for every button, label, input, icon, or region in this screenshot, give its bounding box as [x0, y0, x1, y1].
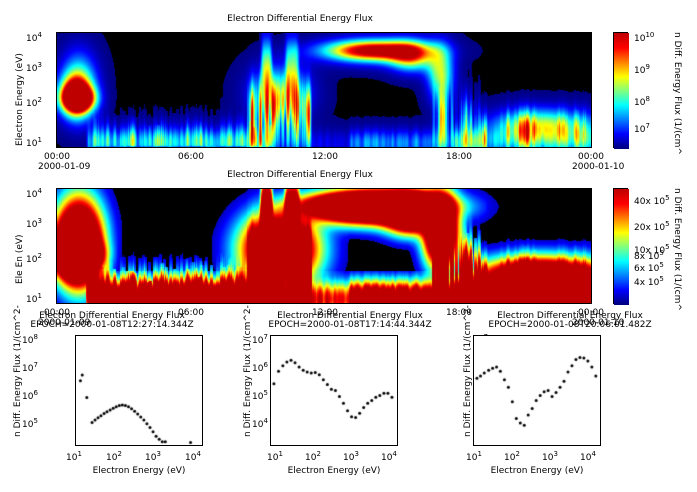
panel1-xtick-4: 00:00	[578, 152, 604, 162]
spectrum2-xtick-4: 104	[381, 450, 397, 463]
spectrum3-xtick-4: 104	[580, 450, 596, 463]
panel1-ytick-1: 101	[26, 136, 42, 149]
panel1-ytick-4-exp: 4	[37, 31, 41, 39]
panel1-title: Electron Differential Energy Flux	[0, 14, 600, 24]
spectrum1-ytick-5-exp: 5	[33, 417, 37, 425]
panel2-cbtick-40-exp: 5	[665, 194, 669, 202]
panel1-ytick-2-exp: 2	[37, 96, 41, 104]
spectrum2-xlabel: Electron Energy (eV)	[270, 466, 398, 476]
spectrum1-ytick-8-exp: 8	[33, 333, 37, 341]
spectrum2-xtick-1-exp: 1	[278, 450, 282, 458]
panel2-cbtick-4: 4x 105	[634, 275, 664, 288]
panel1-ytick-1-exp: 1	[37, 136, 41, 144]
spectrum2-ytick-7-exp: 7	[263, 333, 267, 341]
spectrum2-xtick-4-exp: 4	[392, 450, 396, 458]
spectrum3-subtitle: EPOCH=2000-01-08T20:06:01.482Z	[450, 320, 690, 330]
spectrum2-ytick-6: 106	[252, 361, 268, 374]
spectrum3-xlabel: Electron Energy (eV)	[473, 466, 601, 476]
panel2-cbtick-20-exp: 5	[665, 220, 669, 228]
panel1-cbtick-10-exp: 10	[645, 31, 654, 39]
spectrum1-plot-area[interactable]	[75, 335, 203, 446]
spectrum2-xtick-1: 101	[267, 450, 283, 463]
panel2-title: Electron Differential Energy Flux	[0, 170, 600, 180]
panel1-colorbar[interactable]	[613, 32, 628, 148]
spectrum2-ytick-6-exp: 6	[263, 361, 267, 369]
panel1-xtick-3: 18:00	[446, 152, 472, 162]
panel2-cbtick-10-exp: 5	[665, 243, 669, 251]
panel2-cbtick-6-mant: 6x 10	[634, 264, 659, 274]
panel2-colorbar-label: n Diff. Energy Flux (1/(cm^	[672, 188, 682, 311]
panel2-cbtick-20-mant: 20x 10	[634, 223, 665, 233]
spectrum2-ytick-7: 107	[252, 333, 268, 346]
panel1-xtick-2: 12:00	[312, 152, 338, 162]
panel1-ytick-3: 103	[26, 61, 42, 74]
panel2-ytick-3-exp: 3	[37, 217, 41, 225]
spectrum1-ytick-7: 107	[22, 361, 38, 374]
panel1-cbtick-7: 107	[634, 122, 650, 135]
spectrum3-xtick-3: 103	[542, 450, 558, 463]
spectrum2-xtick-3-exp: 3	[354, 450, 358, 458]
panel1-ytick-3-exp: 3	[37, 61, 41, 69]
panel1-xtick-1: 06:00	[178, 152, 204, 162]
panel1-plot-area[interactable]	[56, 32, 592, 148]
panel1-cbtick-9: 109	[634, 63, 650, 76]
panel2-colorbar[interactable]	[613, 188, 628, 304]
spectrum1-xtick-3-exp: 3	[156, 450, 160, 458]
spectrum1-xlabel: Electron Energy (eV)	[75, 466, 203, 476]
spectrum1-ytick-7-exp: 7	[33, 361, 37, 369]
spectrum1-ytick-6-exp: 6	[33, 389, 37, 397]
spectrum1-subtitle: EPOCH=2000-01-08T12:27:14.344Z	[0, 320, 232, 330]
panel2-ytick-4: 104	[26, 187, 42, 200]
panel1-xtick-0: 00:00	[44, 152, 70, 162]
panel2-cbtick-40-mant: 40x 10	[634, 197, 665, 207]
panel1-ytick-4: 104	[26, 31, 42, 44]
panel1-colorbar-label-group: n Diff. Energy Flux (1/(cm^	[672, 32, 686, 148]
panel2-cbtick-8-exp: 5	[659, 249, 663, 257]
spectrum1-xtick-3: 103	[145, 450, 161, 463]
panel2-cbtick-4-mant: 4x 10	[634, 278, 659, 288]
panel1-cbtick-10: 1010	[634, 31, 654, 44]
panel1-colorbar-canvas	[614, 33, 629, 149]
panel1-ytick-2: 102	[26, 96, 42, 109]
spectrum2-xtick-3: 103	[343, 450, 359, 463]
panel1-spectrogram-canvas[interactable]	[57, 33, 592, 148]
panel1-ylabel: Electron Energy (eV)	[15, 53, 25, 146]
spectrum2-canvas[interactable]	[271, 336, 399, 447]
spectrum1-xtick-4: 104	[185, 450, 201, 463]
spectrum3-xtick-2: 102	[504, 450, 520, 463]
spectrum1-ytick-8: 108	[22, 333, 38, 346]
spectrum2-xtick-2-exp: 2	[316, 450, 320, 458]
panel2-ytick-2: 102	[26, 252, 42, 265]
spectrum2-ytick-5: 105	[252, 389, 268, 402]
panel1-ylabel-group: Electron Energy (eV)	[4, 32, 18, 148]
spectrum2-subtitle: EPOCH=2000-01-08T17:14:44.344Z	[230, 320, 470, 330]
spectrum1-xtick-1: 101	[66, 450, 82, 463]
spectrum3-xtick-4-exp: 4	[591, 450, 595, 458]
spectrum1-xtick-4-exp: 4	[196, 450, 200, 458]
panel2-ytick-1: 101	[26, 292, 42, 305]
panel1-cbtick-7-exp: 7	[645, 122, 649, 130]
spectrum1-ytick-5: 105	[22, 417, 38, 430]
panel1-cbtick-8-exp: 8	[645, 95, 649, 103]
spectrum3-xtick-1: 101	[466, 450, 482, 463]
panel2-colorbar-label-group: n Diff. Energy Flux (1/(cm^	[672, 188, 686, 304]
spectrum2-ytick-4: 104	[252, 417, 268, 430]
spectrum2-ytick-4-exp: 4	[263, 417, 267, 425]
spectrum1-ylabel-group: n Diff. Energy Flux (1/(cm^2-	[2, 333, 16, 438]
spectrum1-canvas[interactable]	[76, 336, 204, 447]
spectrum1-xtick-2-exp: 2	[117, 450, 121, 458]
panel1-cbtick-8: 108	[634, 95, 650, 108]
spectrum2-ytick-5-exp: 5	[263, 389, 267, 397]
panel2-ytick-2-exp: 2	[37, 252, 41, 260]
panel2-cbtick-40: 40x 105	[634, 194, 670, 207]
panel2-plot-area[interactable]	[56, 188, 592, 304]
spectrum3-xtick-3-exp: 3	[553, 450, 557, 458]
panel1-colorbar-label: n Diff. Energy Flux (1/(cm^	[672, 32, 682, 155]
spectrum3-xtick-2-exp: 2	[515, 450, 519, 458]
spectrum2-xtick-2: 102	[305, 450, 321, 463]
panel2-colorbar-canvas	[614, 189, 629, 305]
spectrum3-ylabel-group: n Diff. Energy Flux (1/(cm^2-	[452, 333, 466, 438]
spectrum3-xtick-1-exp: 1	[477, 450, 481, 458]
spectrum3-plot-area[interactable]	[473, 335, 601, 446]
panel2-ylabel: Ele En (eV)	[15, 234, 25, 284]
panel1-cbtick-9-exp: 9	[645, 63, 649, 71]
panel2-spectrogram-canvas[interactable]	[57, 189, 592, 304]
panel2-cbtick-6-exp: 5	[659, 261, 663, 269]
panel2-ytick-3: 103	[26, 217, 42, 230]
spectrum3-canvas[interactable]	[474, 336, 602, 447]
panel2-cbtick-4-exp: 5	[659, 275, 663, 283]
spectrum1-xtick-2: 102	[106, 450, 122, 463]
panel2-cbtick-6: 6x 105	[634, 261, 664, 274]
spectrum2-ylabel-group: n Diff. Energy Flux (1/(cm^2-	[232, 333, 246, 438]
spectrum2-plot-area[interactable]	[270, 335, 398, 446]
panel2-cbtick-20: 20x 105	[634, 220, 670, 233]
panel2-ytick-4-exp: 4	[37, 187, 41, 195]
spectrum1-ytick-6: 106	[22, 389, 38, 402]
panel2-ytick-1-exp: 1	[37, 292, 41, 300]
panel2-ylabel-group: Ele En (eV)	[4, 188, 18, 304]
spectrum1-xtick-1-exp: 1	[77, 450, 81, 458]
